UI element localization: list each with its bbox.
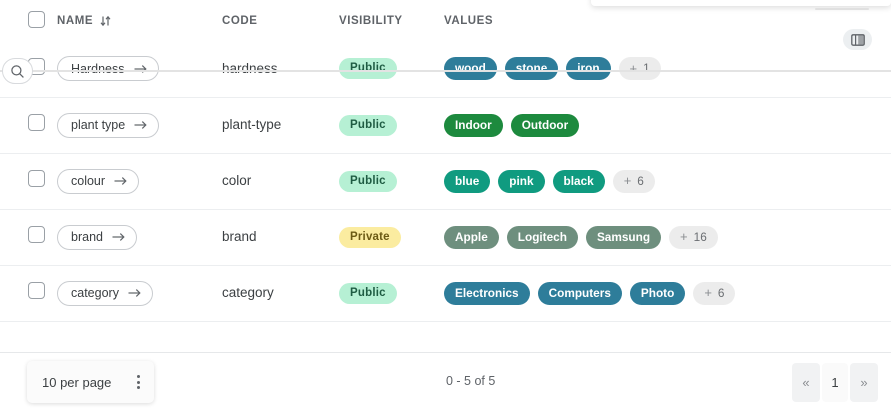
columns-layout-icon[interactable] xyxy=(843,29,872,50)
table-body: HardnesshardnessPublicwoodstoneiron+1pla… xyxy=(0,41,891,321)
name-link-pill[interactable]: category xyxy=(57,281,153,306)
column-header-visibility-label: VISIBILITY xyxy=(339,15,403,27)
row-visibility-cell: Public xyxy=(339,97,444,153)
more-values-count: 1 xyxy=(643,61,650,75)
search-icon[interactable] xyxy=(2,58,33,84)
table-header-row: NAME CODE VISIBILITY xyxy=(0,0,891,41)
row-values-cell: ElectronicsComputersPhoto+6 xyxy=(444,265,891,321)
value-tag[interactable]: Indoor xyxy=(444,114,503,137)
table-row[interactable]: HardnesshardnessPublicwoodstoneiron+1 xyxy=(0,41,891,97)
per-page-label: 10 per page xyxy=(42,375,111,390)
name-link-pill[interactable]: brand xyxy=(57,225,137,250)
column-header-values[interactable]: VALUES xyxy=(444,0,891,41)
choices-table: NAME CODE VISIBILITY xyxy=(0,0,891,322)
row-code-cell: color xyxy=(222,153,339,209)
plus-icon: + xyxy=(630,62,638,75)
select-all-cell xyxy=(0,0,57,41)
row-visibility-cell: Public xyxy=(339,265,444,321)
floating-panel-handle xyxy=(815,8,869,10)
name-link-pill[interactable]: plant type xyxy=(57,113,159,138)
more-values-tag[interactable]: +6 xyxy=(613,170,655,193)
more-values-tag[interactable]: +16 xyxy=(669,226,718,249)
column-header-code[interactable]: CODE xyxy=(222,0,339,41)
column-header-values-label: VALUES xyxy=(444,15,493,27)
row-select-cell xyxy=(0,265,57,321)
code-value: hardness xyxy=(222,61,278,76)
row-checkbox[interactable] xyxy=(28,170,45,187)
per-page-selector[interactable]: 10 per page xyxy=(27,361,154,403)
row-code-cell: category xyxy=(222,265,339,321)
pagination-first-button[interactable]: « xyxy=(792,363,820,402)
table-row[interactable]: categorycategoryPublicElectronicsCompute… xyxy=(0,265,891,321)
pagination-page-1[interactable]: 1 xyxy=(822,363,848,402)
name-label: plant type xyxy=(71,118,125,132)
value-tag[interactable]: Apple xyxy=(444,226,499,249)
status-badge: Public xyxy=(339,115,397,136)
value-tag[interactable]: pink xyxy=(498,170,544,193)
value-tag-list: AppleLogitechSamsung+16 xyxy=(444,226,891,249)
row-name-cell: category xyxy=(57,265,222,321)
name-label: category xyxy=(71,286,119,300)
code-value: plant-type xyxy=(222,117,281,132)
row-name-cell: colour xyxy=(57,153,222,209)
row-select-cell xyxy=(0,209,57,265)
column-header-name[interactable]: NAME xyxy=(57,0,222,41)
code-value: category xyxy=(222,285,274,300)
plus-icon: + xyxy=(680,230,688,243)
row-checkbox[interactable] xyxy=(28,226,45,243)
choices-table-page: NAME CODE VISIBILITY xyxy=(0,0,891,415)
arrow-right-icon xyxy=(112,232,125,242)
value-tag[interactable]: Samsung xyxy=(586,226,661,249)
value-tag[interactable]: Logitech xyxy=(507,226,578,249)
row-values-cell: IndoorOutdoor xyxy=(444,97,891,153)
plus-icon: + xyxy=(704,286,712,299)
status-badge: Public xyxy=(339,58,397,79)
table-header: NAME CODE VISIBILITY xyxy=(0,0,891,41)
row-checkbox[interactable] xyxy=(28,114,45,131)
header-divider xyxy=(0,70,891,72)
row-visibility-cell: Private xyxy=(339,209,444,265)
pagination-last-button[interactable]: » xyxy=(850,363,878,402)
value-tag[interactable]: black xyxy=(553,170,605,193)
value-tag[interactable]: Computers xyxy=(538,282,622,305)
name-label: brand xyxy=(71,230,103,244)
floating-panel-edge xyxy=(591,0,891,6)
value-tag[interactable]: stone xyxy=(505,57,558,80)
kebab-vertical-icon[interactable] xyxy=(135,375,142,389)
row-name-cell: Hardness xyxy=(57,41,222,97)
row-checkbox[interactable] xyxy=(28,282,45,299)
row-select-cell xyxy=(0,97,57,153)
arrow-right-icon xyxy=(134,120,147,130)
value-tag[interactable]: Electronics xyxy=(444,282,530,305)
arrow-right-icon xyxy=(114,176,127,186)
row-visibility-cell: Public xyxy=(339,153,444,209)
value-tag-list: bluepinkblack+6 xyxy=(444,170,891,193)
result-range-text: 0 - 5 of 5 xyxy=(446,374,495,388)
more-values-tag[interactable]: +1 xyxy=(619,57,661,80)
row-name-cell: brand xyxy=(57,209,222,265)
value-tag[interactable]: wood xyxy=(444,57,497,80)
more-values-tag[interactable]: +6 xyxy=(693,282,735,305)
name-link-pill[interactable]: Hardness xyxy=(57,56,159,81)
code-value: brand xyxy=(222,229,257,244)
row-values-cell: woodstoneiron+1 xyxy=(444,41,891,97)
table-row[interactable]: colourcolorPublicbluepinkblack+6 xyxy=(0,153,891,209)
value-tag[interactable]: iron xyxy=(566,57,610,80)
arrow-right-icon xyxy=(128,288,141,298)
value-tag[interactable]: Photo xyxy=(630,282,685,305)
row-code-cell: plant-type xyxy=(222,97,339,153)
column-header-visibility[interactable]: VISIBILITY xyxy=(339,0,444,41)
value-tag-list: IndoorOutdoor xyxy=(444,114,891,137)
more-values-count: 6 xyxy=(637,174,644,188)
row-code-cell: hardness xyxy=(222,41,339,97)
table-footer: 10 per page 0 - 5 of 5 « 1 » xyxy=(0,353,891,415)
name-label: Hardness xyxy=(71,62,125,76)
more-values-count: 6 xyxy=(718,286,725,300)
value-tag-list: woodstoneiron+1 xyxy=(444,57,891,80)
row-visibility-cell: Public xyxy=(339,41,444,97)
row-select-cell xyxy=(0,153,57,209)
name-link-pill[interactable]: colour xyxy=(57,169,139,194)
table-row[interactable]: brandbrandPrivateAppleLogitechSamsung+16 xyxy=(0,209,891,265)
value-tag[interactable]: Outdoor xyxy=(511,114,580,137)
plus-icon: + xyxy=(624,174,632,187)
row-values-cell: bluepinkblack+6 xyxy=(444,153,891,209)
status-badge: Private xyxy=(339,227,401,248)
row-name-cell: plant type xyxy=(57,97,222,153)
value-tag[interactable]: blue xyxy=(444,170,490,193)
table-row[interactable]: plant typeplant-typePublicIndoorOutdoor xyxy=(0,97,891,153)
column-header-code-label: CODE xyxy=(222,15,257,27)
pagination: « 1 » xyxy=(792,363,878,402)
name-label: colour xyxy=(71,174,105,188)
value-tag-list: ElectronicsComputersPhoto+6 xyxy=(444,282,891,305)
select-all-checkbox[interactable] xyxy=(28,11,45,28)
arrow-right-icon xyxy=(134,64,147,74)
sort-arrows-icon[interactable] xyxy=(100,15,111,27)
column-header-name-label: NAME xyxy=(57,15,93,27)
status-badge: Public xyxy=(339,171,397,192)
row-values-cell: AppleLogitechSamsung+16 xyxy=(444,209,891,265)
code-value: color xyxy=(222,173,251,188)
more-values-count: 16 xyxy=(694,230,707,244)
status-badge: Public xyxy=(339,283,397,304)
row-code-cell: brand xyxy=(222,209,339,265)
